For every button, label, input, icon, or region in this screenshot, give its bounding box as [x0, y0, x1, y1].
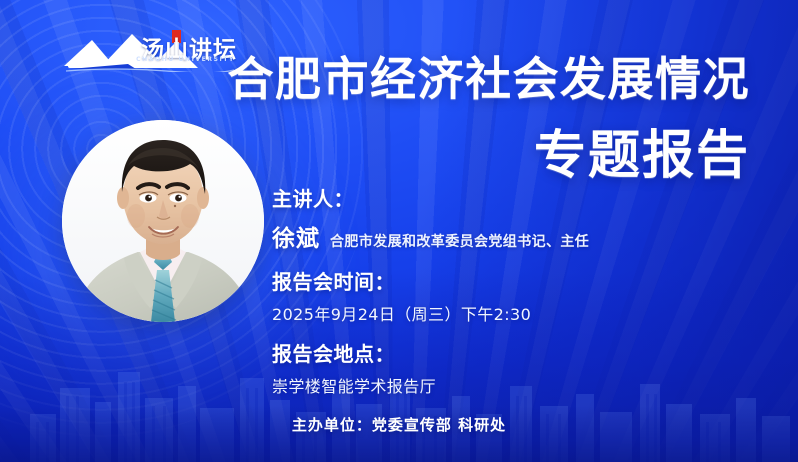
organizer-footer: 主办单位：党委宣传部 科研处 [0, 414, 798, 435]
speaker-position: 合肥市发展和改革委员会党组书记、主任 [330, 231, 589, 251]
speaker-row: 徐斌 合肥市发展和改革委员会党组书记、主任 [272, 219, 692, 253]
poster-canvas: 汤山讲坛 CHAOHU UNIVERSITY [0, 0, 798, 462]
logo-name-en: CHAOHU UNIVERSITY [136, 56, 235, 63]
time-label: 报告会时间： [272, 271, 692, 293]
speaker-portrait-wrap [62, 120, 264, 322]
speaker-name: 徐斌 [272, 219, 320, 253]
time-block: 报告会时间： 2025年9月24日（周三）下午2:30 [272, 271, 692, 325]
place-label: 报告会地点： [272, 343, 692, 365]
time-value: 2025年9月24日（周三）下午2:30 [272, 301, 692, 325]
place-block: 报告会地点： 崇学楼智能学术报告厅 [272, 343, 692, 397]
info-block: 主讲人： 徐斌 合肥市发展和改革委员会党组书记、主任 报告会时间： 2025年9… [272, 188, 692, 397]
brand-logo: 汤山讲坛 CHAOHU UNIVERSITY [62, 22, 237, 78]
page-title-line1: 合肥市经济社会发展情况 [228, 56, 751, 102]
speaker-portrait [62, 120, 264, 322]
speaker-label: 主讲人： [272, 188, 692, 210]
page-title-line2: 专题报告 [534, 130, 750, 182]
place-value: 崇学楼智能学术报告厅 [272, 373, 692, 397]
